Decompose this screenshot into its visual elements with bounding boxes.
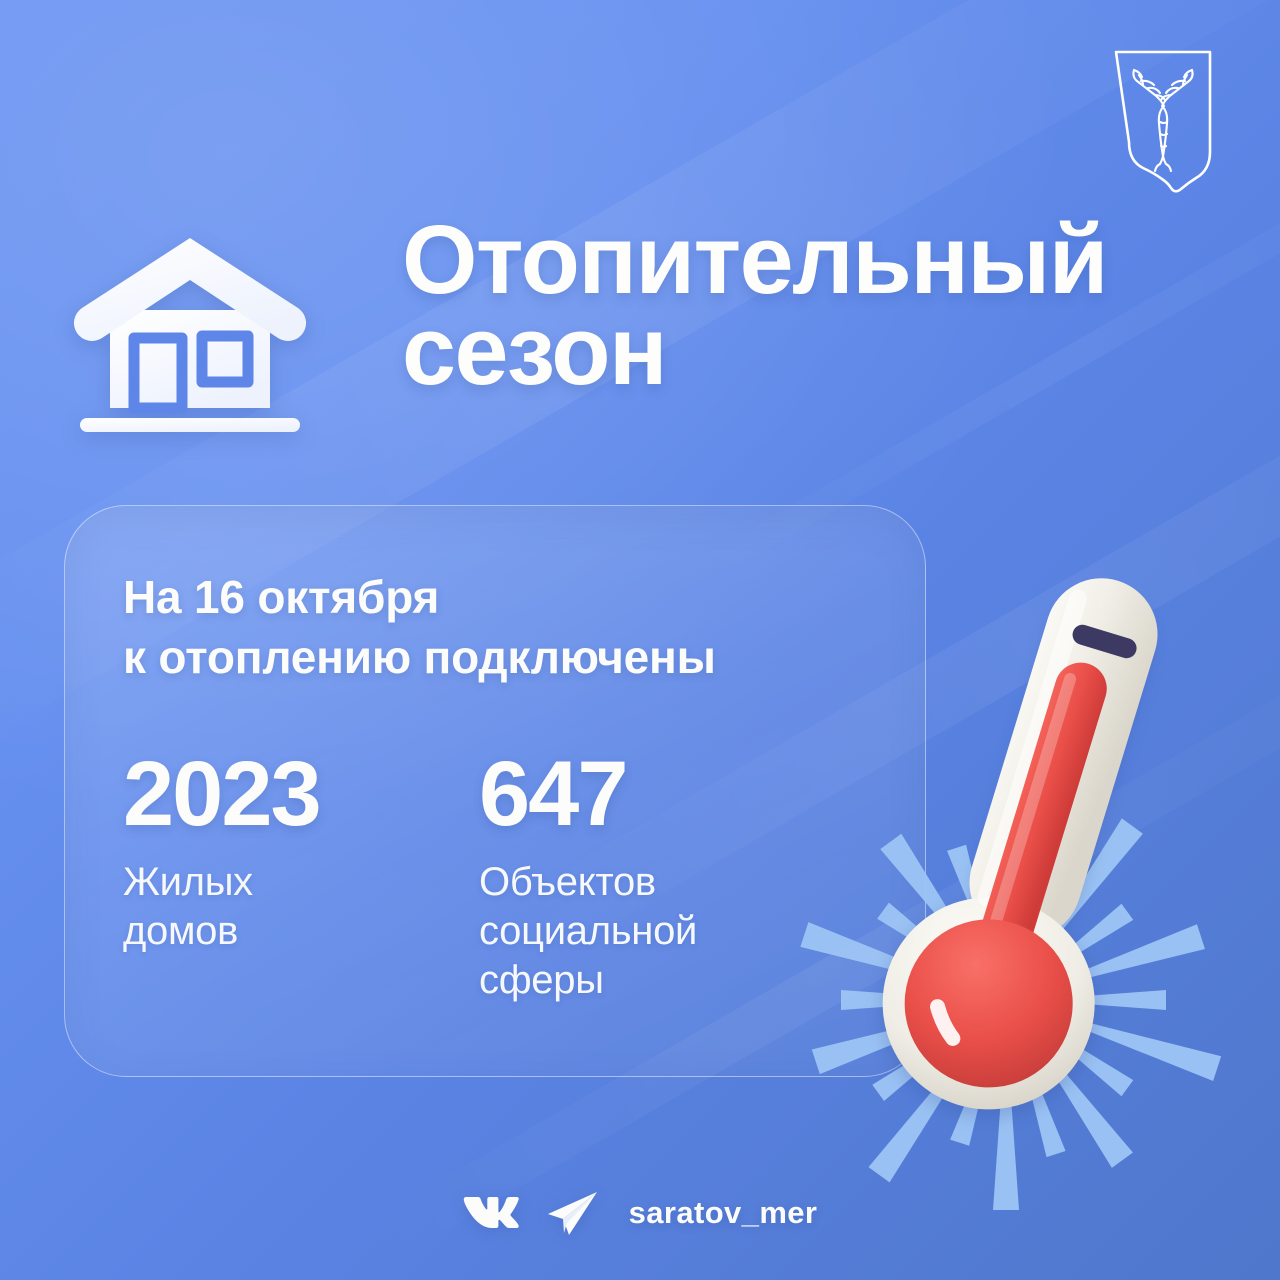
- title-line-2: сезон: [402, 305, 1280, 396]
- poster-header: Отопительный сезон: [64, 226, 1224, 446]
- stat-label-line-1: Жилых: [123, 858, 423, 907]
- saratov-coat-of-arms-icon: [1112, 48, 1214, 194]
- telegram-icon[interactable]: [545, 1190, 599, 1236]
- poster-canvas: Отопительный сезон На 16 октября к отопл…: [0, 0, 1280, 1280]
- stats-row: 2023 Жилых домов 647 Объектов социальной…: [123, 748, 809, 1004]
- house-icon: [72, 232, 308, 440]
- stat-label-line-2: домов: [123, 907, 423, 956]
- stat-residential-houses: 2023 Жилых домов: [123, 748, 423, 1004]
- thermometer-illustration: [760, 500, 1280, 1220]
- footer-social: saratov_mer: [0, 1190, 1280, 1236]
- social-handle[interactable]: saratov_mer: [629, 1195, 818, 1231]
- stat-value: 2023: [123, 748, 423, 840]
- page-title: Отопительный сезон: [402, 214, 1280, 396]
- vk-icon[interactable]: [463, 1193, 525, 1233]
- stat-label: Жилых домов: [123, 858, 423, 956]
